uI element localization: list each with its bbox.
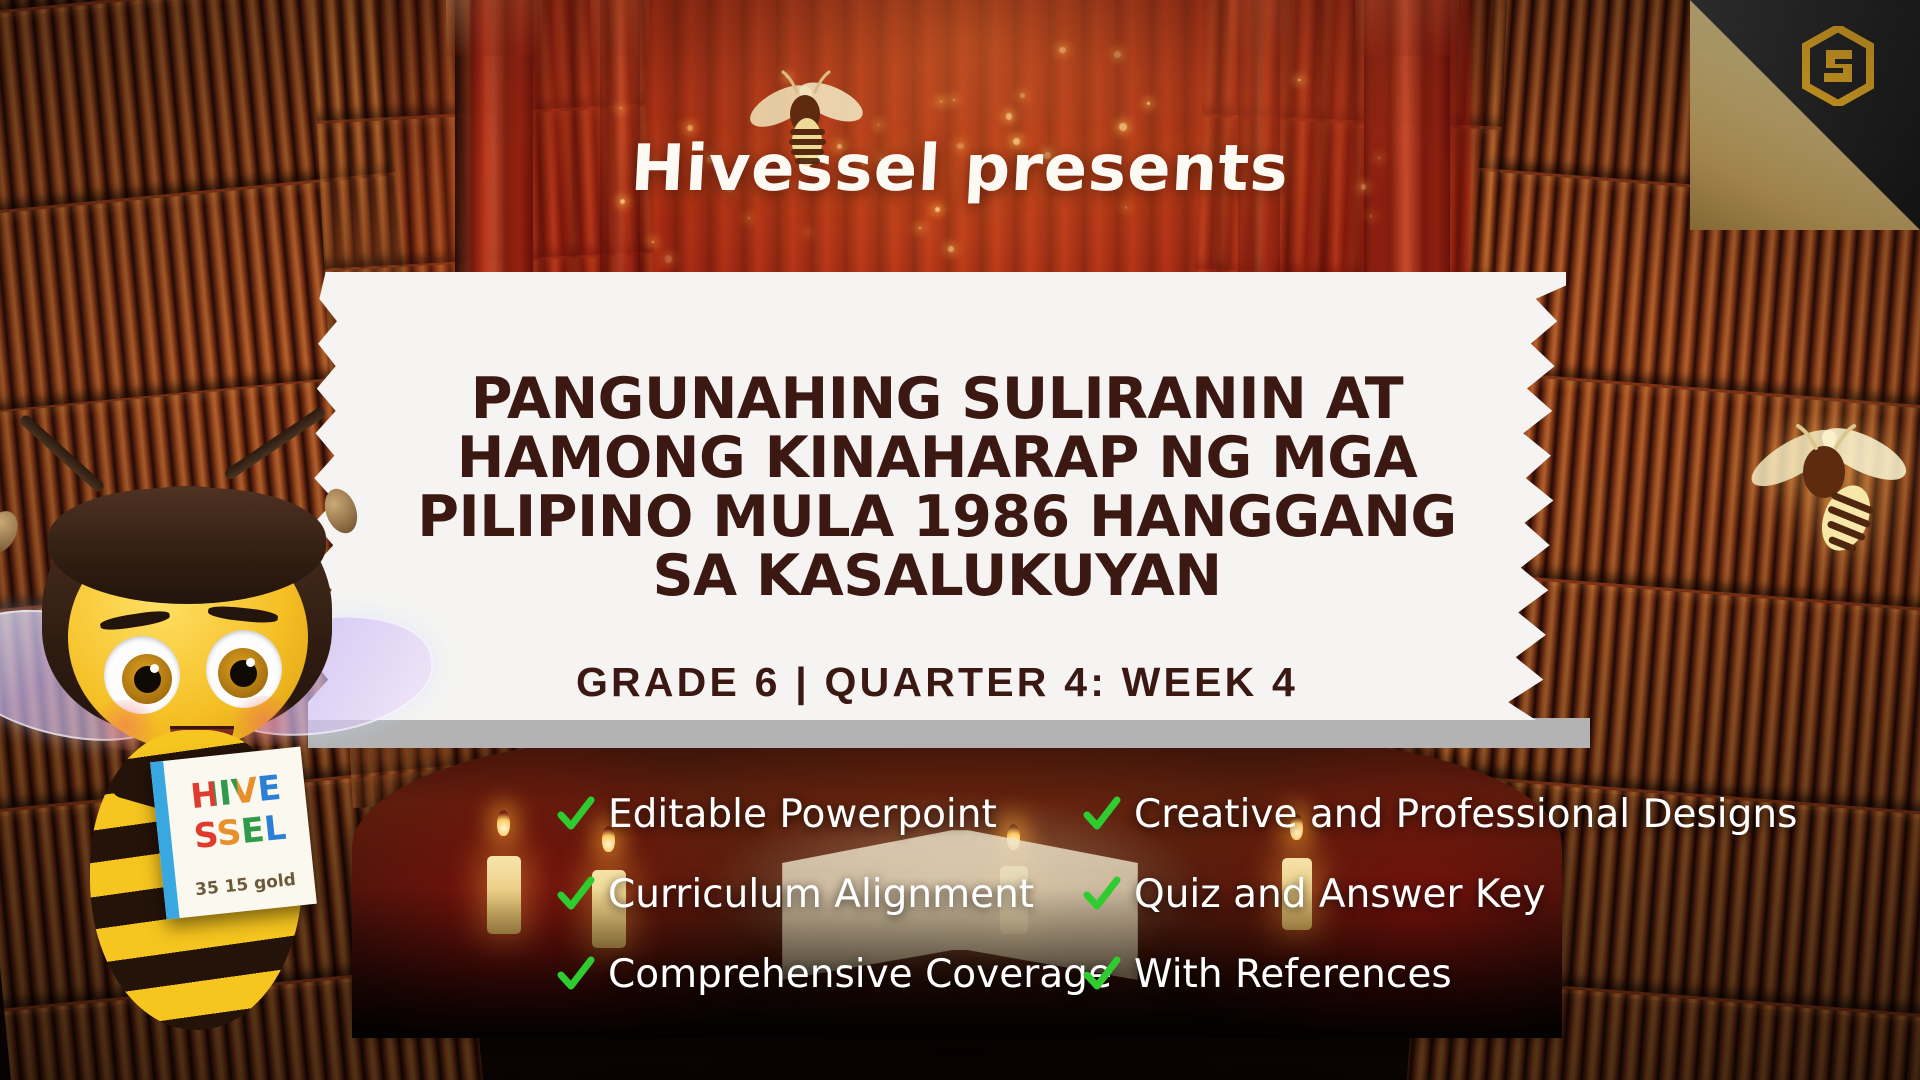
feature-label: Quiz and Answer Key bbox=[1134, 872, 1546, 917]
flying-bee-top-icon bbox=[735, 62, 875, 182]
mascot-eye-glint-right bbox=[246, 658, 255, 667]
check-icon bbox=[1082, 794, 1122, 834]
mascot-antenna-ball-left bbox=[0, 506, 24, 559]
grade-quarter-week-subtitle: GRADE 6 | QUARTER 4: WEEK 4 bbox=[308, 659, 1566, 706]
feature-column-left: Editable PowerpointCurriculum AlignmentC… bbox=[556, 788, 1076, 1000]
mascot-antenna-ball-right bbox=[319, 484, 363, 537]
check-icon bbox=[556, 954, 596, 994]
promo-slide: Hivessel presents PANGUNAHING SULIRANIN … bbox=[0, 0, 1920, 1080]
feature-item-left-1: Editable Powerpoint bbox=[556, 788, 1076, 840]
check-icon-wrap bbox=[556, 794, 596, 834]
page-title: PANGUNAHING SULIRANIN AT HAMONG KINAHARA… bbox=[368, 370, 1506, 606]
check-icon-wrap bbox=[1082, 874, 1122, 914]
check-icon-wrap bbox=[1082, 954, 1122, 994]
feature-column-right: Creative and Professional DesignsQuiz an… bbox=[1082, 788, 1842, 1000]
feature-item-right-3: With References bbox=[1082, 948, 1842, 1000]
feature-item-right-2: Quiz and Answer Key bbox=[1082, 868, 1842, 920]
feature-label: Creative and Professional Designs bbox=[1134, 792, 1797, 837]
mascot-fringe bbox=[48, 488, 326, 604]
check-icon bbox=[556, 794, 596, 834]
feature-label: Curriculum Alignment bbox=[608, 872, 1034, 917]
feature-label: With References bbox=[1134, 952, 1452, 997]
flying-bee-right-icon bbox=[1738, 410, 1918, 580]
mascot-eye-glint-left bbox=[150, 664, 159, 673]
feature-item-right-1: Creative and Professional Designs bbox=[1082, 788, 1842, 840]
feature-label: Comprehensive Coverage bbox=[608, 952, 1112, 997]
bee-mascot: HIVE SSEL 35 15 gold bbox=[0, 432, 464, 1080]
check-icon-wrap bbox=[556, 874, 596, 914]
title-card: PANGUNAHING SULIRANIN AT HAMONG KINAHARA… bbox=[308, 272, 1566, 720]
presents-headline: Hivessel presents bbox=[0, 132, 1920, 206]
check-icon-wrap bbox=[556, 954, 596, 994]
book-title-line-2: SSEL bbox=[192, 808, 288, 857]
check-icon bbox=[1082, 954, 1122, 994]
check-icon bbox=[1082, 874, 1122, 914]
grey-divider-band bbox=[308, 718, 1590, 748]
feature-item-left-2: Curriculum Alignment bbox=[556, 868, 1076, 920]
feature-item-left-3: Comprehensive Coverage bbox=[556, 948, 1076, 1000]
book-sold-label: 35 15 gold bbox=[176, 868, 315, 902]
feature-label: Editable Powerpoint bbox=[608, 792, 997, 837]
hivessel-hex-logo-icon[interactable] bbox=[1802, 26, 1874, 106]
check-icon bbox=[556, 874, 596, 914]
mascot-book: HIVE SSEL 35 15 gold bbox=[150, 747, 317, 920]
check-icon-wrap bbox=[1082, 794, 1122, 834]
